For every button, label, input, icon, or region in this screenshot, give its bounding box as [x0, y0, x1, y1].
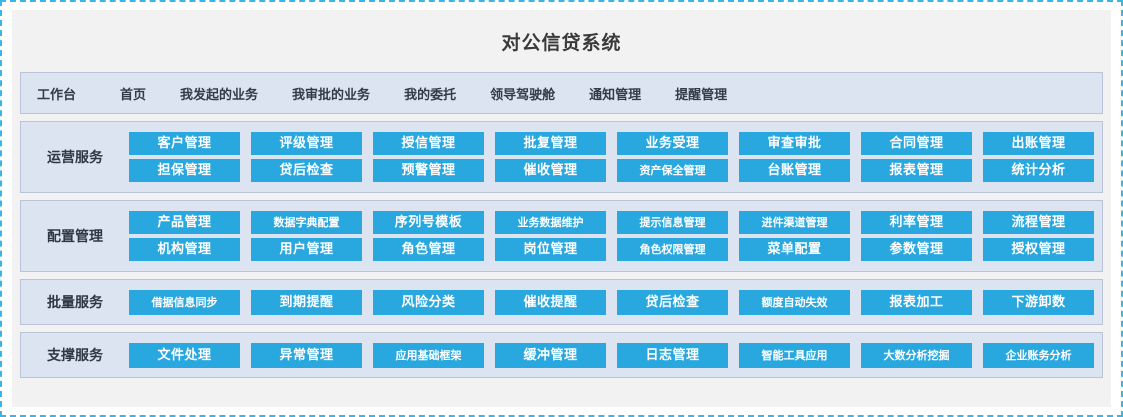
module-button[interactable]: 流程管理	[983, 211, 1094, 234]
module-button[interactable]: 统计分析	[983, 159, 1094, 182]
module-button[interactable]: 客户管理	[129, 132, 240, 155]
section-label: 批量服务	[21, 292, 129, 312]
module-button[interactable]: 角色权限管理	[617, 238, 728, 261]
section-button-grid: 借据信息同步到期提醒风险分类催收提醒贷后检查额度自动失效报表加工下游卸数	[129, 290, 1094, 315]
nav-item-7[interactable]: 提醒管理	[675, 84, 727, 103]
module-button[interactable]: 缓冲管理	[495, 343, 606, 368]
module-button[interactable]: 台账管理	[739, 159, 850, 182]
section-1: 配置管理产品管理数据字典配置序列号模板业务数据维护提示信息管理进件渠道管理利率管…	[20, 200, 1103, 272]
module-sections: 运营服务客户管理评级管理授信管理批复管理业务受理审查审批合同管理出账管理担保管理…	[12, 121, 1111, 407]
section-button-grid: 产品管理数据字典配置序列号模板业务数据维护提示信息管理进件渠道管理利率管理流程管…	[129, 211, 1094, 261]
portal-frame: 对公信贷系统 工作台首页我发起的业务我审批的业务我的委托领导驾驶舱通知管理提醒管…	[12, 10, 1111, 407]
nav-item-4[interactable]: 我的委托	[404, 84, 456, 103]
module-button[interactable]: 角色管理	[373, 238, 484, 261]
section-label: 配置管理	[21, 226, 129, 246]
section-button-grid: 文件处理异常管理应用基础框架缓冲管理日志管理智能工具应用大数分析挖掘企业账务分析	[129, 343, 1094, 368]
nav-item-0[interactable]: 工作台	[37, 84, 76, 103]
module-button[interactable]: 大数分析挖掘	[861, 343, 972, 368]
module-button[interactable]: 下游卸数	[983, 290, 1094, 315]
module-button[interactable]: 业务数据维护	[495, 211, 606, 234]
module-button[interactable]: 资产保全管理	[617, 159, 728, 182]
module-button[interactable]: 贷后检查	[251, 159, 362, 182]
nav-item-5[interactable]: 领导驾驶舱	[490, 84, 555, 103]
module-button[interactable]: 催收提醒	[495, 290, 606, 315]
module-button[interactable]: 机构管理	[129, 238, 240, 261]
section-2: 批量服务借据信息同步到期提醒风险分类催收提醒贷后检查额度自动失效报表加工下游卸数	[20, 279, 1103, 325]
module-button[interactable]: 日志管理	[617, 343, 728, 368]
module-button[interactable]: 催收管理	[495, 159, 606, 182]
module-button[interactable]: 授权管理	[983, 238, 1094, 261]
module-button[interactable]: 智能工具应用	[739, 343, 850, 368]
module-button[interactable]: 评级管理	[251, 132, 362, 155]
module-button[interactable]: 业务受理	[617, 132, 728, 155]
module-button[interactable]: 进件渠道管理	[739, 211, 850, 234]
module-button[interactable]: 授信管理	[373, 132, 484, 155]
module-button[interactable]: 菜单配置	[739, 238, 850, 261]
module-button[interactable]: 风险分类	[373, 290, 484, 315]
nav-item-2[interactable]: 我发起的业务	[180, 84, 258, 103]
system-portal-page: 对公信贷系统 工作台首页我发起的业务我审批的业务我的委托领导驾驶舱通知管理提醒管…	[0, 0, 1123, 417]
module-button[interactable]: 企业账务分析	[983, 343, 1094, 368]
module-button[interactable]: 应用基础框架	[373, 343, 484, 368]
section-label: 支撑服务	[21, 345, 129, 365]
module-button[interactable]: 出账管理	[983, 132, 1094, 155]
module-button[interactable]: 数据字典配置	[251, 211, 362, 234]
module-button[interactable]: 异常管理	[251, 343, 362, 368]
module-button[interactable]: 参数管理	[861, 238, 972, 261]
module-button[interactable]: 审查审批	[739, 132, 850, 155]
module-button[interactable]: 产品管理	[129, 211, 240, 234]
page-title-bar: 对公信贷系统	[12, 10, 1111, 72]
module-button[interactable]: 批复管理	[495, 132, 606, 155]
top-navigation[interactable]: 工作台首页我发起的业务我审批的业务我的委托领导驾驶舱通知管理提醒管理	[20, 72, 1103, 114]
module-button[interactable]: 担保管理	[129, 159, 240, 182]
nav-item-1[interactable]: 首页	[120, 84, 146, 103]
nav-item-3[interactable]: 我审批的业务	[292, 84, 370, 103]
section-label: 运营服务	[21, 147, 129, 167]
module-button[interactable]: 岗位管理	[495, 238, 606, 261]
module-button[interactable]: 预警管理	[373, 159, 484, 182]
module-button[interactable]: 利率管理	[861, 211, 972, 234]
section-0: 运营服务客户管理评级管理授信管理批复管理业务受理审查审批合同管理出账管理担保管理…	[20, 121, 1103, 193]
module-button[interactable]: 用户管理	[251, 238, 362, 261]
section-3: 支撑服务文件处理异常管理应用基础框架缓冲管理日志管理智能工具应用大数分析挖掘企业…	[20, 332, 1103, 378]
module-button[interactable]: 报表管理	[861, 159, 972, 182]
module-button[interactable]: 到期提醒	[251, 290, 362, 315]
nav-item-6[interactable]: 通知管理	[589, 84, 641, 103]
module-button[interactable]: 文件处理	[129, 343, 240, 368]
module-button[interactable]: 提示信息管理	[617, 211, 728, 234]
module-button[interactable]: 报表加工	[861, 290, 972, 315]
section-button-grid: 客户管理评级管理授信管理批复管理业务受理审查审批合同管理出账管理担保管理贷后检查…	[129, 132, 1094, 182]
module-button[interactable]: 额度自动失效	[739, 290, 850, 315]
module-button[interactable]: 合同管理	[861, 132, 972, 155]
module-button[interactable]: 序列号模板	[373, 211, 484, 234]
page-title: 对公信贷系统	[501, 28, 621, 55]
module-button[interactable]: 借据信息同步	[129, 290, 240, 315]
module-button[interactable]: 贷后检查	[617, 290, 728, 315]
